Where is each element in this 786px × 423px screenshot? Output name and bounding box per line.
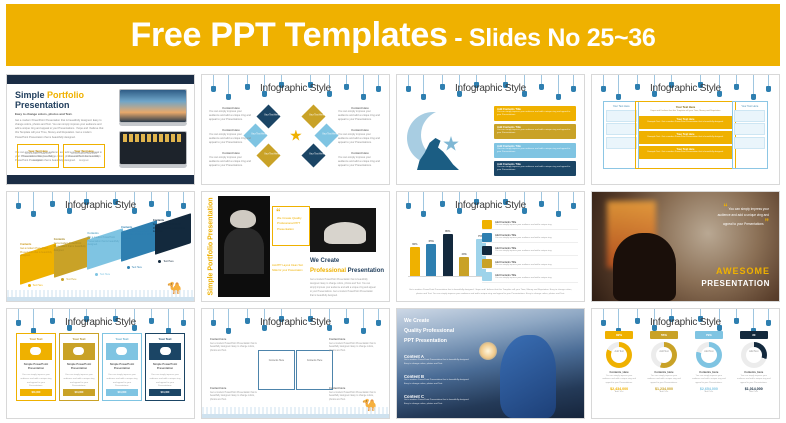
bar-group-3: 85%: [443, 230, 453, 277]
legend-row-4: Add Contents TitleYou can simply impress…: [482, 258, 578, 269]
slide4-left-column: Your Text Here: [603, 101, 639, 169]
kpi-column-3: 79% Add Text Contents_Here You can simpl…: [687, 331, 730, 394]
pricing-button-2[interactable]: $41,000: [63, 389, 94, 396]
step-caption-5: Text Here: [158, 260, 173, 263]
cloud-icon: [149, 343, 182, 360]
slide10-callout-3: Content HereGet a modern PowerPoint Pres…: [210, 387, 262, 402]
star-icon: [290, 130, 302, 142]
slide7-footer: Get a modern PowerPoint Presentation tha…: [408, 289, 573, 296]
step-caption-3: Text Here: [95, 273, 110, 276]
slide8-quote: “ You can simply impress your audience a…: [717, 204, 769, 227]
slide2-callout-4: Content HereYou can simply impress your …: [338, 106, 382, 123]
photo-prostrating-man: [310, 208, 376, 252]
slide11-content-c: Content CGet a modern PowerPoint Present…: [404, 394, 470, 406]
step-caption-2: Text Here: [61, 278, 76, 281]
slide6-side-label: Simple Portfolio Presentation: [204, 192, 218, 301]
slide1-box1-text: Get a modern PowerPoint Presentation tha…: [18, 153, 58, 163]
slide4-left-row-1: [606, 110, 637, 122]
legend-icon-5: [482, 272, 492, 281]
step-label-3: ContentsGet a modern PowerPoint Presenta…: [87, 232, 121, 247]
slide4-center-row-1: Your Text HereExample Text : Get a moder…: [639, 116, 733, 129]
slide4-right-row-1: [734, 110, 765, 122]
pricing-card-3[interactable]: Your Text Simple PowerPoint Presentation…: [102, 333, 141, 401]
donut-chart-2: Add Text: [651, 342, 677, 368]
slide5-title: Infographic Style: [7, 200, 194, 211]
slide12-title: Infographic Style: [592, 317, 779, 328]
slide-thumbnail-11[interactable]: We Create Quality Professional PPT Prese…: [396, 308, 585, 419]
slide9-title: Infographic Style: [7, 317, 194, 328]
cloud-icon: [106, 343, 139, 360]
step-label-4: ContentsGet a modern PowerPoint Presenta…: [121, 226, 155, 241]
donut-chart-3: Add Text: [696, 342, 722, 368]
slide4-left-row-3: [606, 137, 637, 149]
silhouette-figure: [613, 233, 677, 301]
banner-title: Free PPT Templates - Slides No 25~36: [131, 16, 656, 55]
slide11-content-a: Content AGet a modern PowerPoint Present…: [404, 354, 470, 366]
kpi-badge-1: 82%: [605, 331, 633, 339]
slide3-bar-1: Add Contents TitleYou can simply impress…: [494, 106, 576, 121]
cloud-icon: [20, 343, 53, 360]
open-book-icon: Contents Here Contents Here: [258, 350, 333, 389]
diamond-2: Your Text Here: [301, 104, 325, 128]
chart-axis: [408, 276, 490, 277]
laptop-mockup-bottom: [119, 131, 187, 168]
legend-row-3: Add Contents TitleYou can simply impress…: [482, 245, 578, 256]
pricing-card-2[interactable]: Your Text Simple PowerPoint Presentation…: [59, 333, 98, 401]
pricing-card-1[interactable]: Your Text Simple PowerPoint Presentation…: [16, 333, 55, 401]
donut-chart-4: Add Text: [741, 342, 767, 368]
slide6-heading: We Create: [310, 258, 339, 264]
pricing-button-4[interactable]: $41,000: [149, 389, 180, 396]
legend-icon-2: [482, 233, 492, 242]
kpi-column-1: 82% Add Text Contents_Here You can simpl…: [598, 331, 641, 394]
step-label-5: ContentsGet a modern PowerPoint Presenta…: [153, 219, 187, 234]
template-gallery-page: Free PPT Templates - Slides No 25~36 Sim…: [0, 0, 786, 423]
slide8-title-plain: PRESENTATION: [701, 279, 770, 288]
legend-icon-3: [482, 246, 492, 255]
diamond-5: Your Text Here: [256, 143, 280, 167]
diamond-4: Your Text Here: [314, 124, 338, 148]
laptop-mockup-top: [119, 89, 187, 126]
slide4-title: Infographic Style: [592, 83, 779, 94]
bar-group-2: 65%: [426, 240, 436, 277]
slide1-paragraph-1: Get a modern PowerPoint Presentation tha…: [15, 119, 105, 140]
kpi-badge-2: 55%: [650, 331, 678, 339]
slide1-bottom-bar: [7, 175, 194, 184]
slide-thumbnail-2[interactable]: Infographic Style Your Text Here Your Te…: [201, 74, 390, 185]
slide10-callout-2: Content HereGet a modern PowerPoint Pres…: [329, 338, 381, 353]
slide10-callout-1: Content HereGet a modern PowerPoint Pres…: [210, 338, 262, 353]
legend-icon-1: [482, 220, 492, 229]
legend-icon-4: [482, 259, 492, 268]
cloud-icon: [63, 343, 96, 360]
slide-thumbnail-8[interactable]: “ You can simply impress your audience a…: [591, 191, 780, 302]
legend-row-1: Add Contents TitleYou can simply impress…: [482, 219, 578, 230]
slide4-center-row-3: Your Text HereExample Text : Get a moder…: [639, 146, 733, 159]
slide11-heading-3: PPT Presentation: [404, 338, 447, 344]
slide8-title-accent: AWESOME: [716, 266, 770, 276]
kpi-column-4: 30 Add Text Contents_Here You can simply…: [732, 331, 775, 394]
diamond-6: Your Text Here: [301, 143, 325, 167]
slide10-title: Infographic Style: [202, 317, 389, 328]
kpi-badge-3: 79%: [695, 331, 723, 339]
slide-thumbnail-12[interactable]: Infographic Style 82% Add Text Contents_…: [591, 308, 780, 419]
slide1-box2-text: Get a modern PowerPoint Presentation tha…: [64, 153, 104, 163]
step-caption-4: Text Here: [127, 266, 142, 269]
slide-thumbnail-6[interactable]: Simple Portfolio Presentation “ We Creat…: [201, 191, 390, 302]
book-page-right: Contents Here: [296, 350, 333, 389]
donut-chart-1: Add Text: [606, 342, 632, 368]
pricing-button-3[interactable]: $41,000: [106, 389, 137, 396]
slide6-left-caption: ALLPPT Layout Clean Text Slide for your …: [272, 264, 306, 273]
slide1-subtitle: Easy to change colors, photos and Text.: [15, 112, 72, 116]
slide2-callout-6: Content HereYou can simply impress your …: [338, 151, 382, 168]
pricing-card-4[interactable]: Your Text Simple PowerPoint Presentation…: [145, 333, 184, 401]
slide2-callout-3: Content HereYou can simply impress your …: [209, 151, 253, 168]
slide1-title-plain: Simple: [15, 90, 47, 100]
step-caption-1: Text Here: [28, 284, 43, 287]
slide-thumbnail-7[interactable]: Infographic Style 60% 65% 85% 40% 75% Ad…: [396, 191, 585, 302]
slide4-center-column: Your Text Here I hope and I believe that…: [635, 101, 736, 169]
bar-group-1: 60%: [410, 243, 420, 277]
banner-main-text: Free PPT Templates: [131, 16, 448, 54]
slide3-bar-2: Add Contents TitleYou can simply impress…: [494, 124, 576, 139]
slide4-center-row-2: Your Text HereExample Text : Get a moder…: [639, 131, 733, 144]
quote-open-icon: “: [273, 207, 309, 215]
header-banner: Free PPT Templates - Slides No 25~36: [6, 4, 780, 66]
slide7-title: Infographic Style: [397, 200, 584, 211]
slide11-heading-2: Quality Professional: [404, 328, 454, 334]
pricing-button-1[interactable]: $41,000: [20, 389, 51, 396]
quote-close-icon: ”: [765, 217, 770, 227]
slide1-info-box-2: Your Text Here Get a modern PowerPoint P…: [63, 144, 105, 168]
legend-row-5: Add Contents TitleYou can simply impress…: [482, 272, 578, 283]
slide3-title: Infographic Style: [397, 83, 584, 94]
slide6-body: Get a modern PowerPoint Presentation tha…: [310, 279, 376, 298]
bar-chart: 60% 65% 85% 40% 75%: [408, 220, 490, 277]
book-page-left: Contents Here: [258, 350, 295, 389]
step-label-1: ContentsGet a modern PowerPoint Presenta…: [20, 243, 54, 258]
slide-thumbnail-5[interactable]: Infographic Style ContentsGet a modern P…: [6, 191, 195, 302]
slide2-callout-2: Content HereYou can simply impress your …: [209, 128, 253, 145]
slide1-top-bar: [7, 75, 194, 84]
slide2-title: Infographic Style: [202, 83, 389, 94]
slide1-title-line1: Simple Portfolio: [15, 90, 84, 100]
slide4-right-column: Your Text Here: [732, 101, 768, 169]
slide11-heading-1: We Create: [404, 318, 429, 324]
slide4-left-row-2: [606, 123, 637, 135]
slide2-callout-1: Content HereYou can simply impress your …: [209, 106, 253, 123]
bar-group-4: 40%: [459, 253, 469, 277]
slide4-right-row-3: [734, 137, 765, 149]
slide3-bar-4: Add Contents TitleYou can simply impress…: [494, 161, 576, 176]
slide2-callout-5: Content HereYou can simply impress your …: [338, 128, 382, 145]
kpi-column-2: 55% Add Text Contents_Here You can simpl…: [642, 331, 685, 394]
banner-sub-text: - Slides No 25~36: [448, 24, 656, 52]
slide11-content-b: Content BGet a modern PowerPoint Present…: [404, 374, 470, 386]
slide1-title-accent: Portfolio: [47, 90, 84, 100]
legend-row-2: Add Contents TitleYou can simply impress…: [482, 232, 578, 243]
slide6-quote-box: “ We Create Quality Professional PPT Pre…: [272, 206, 310, 246]
slide-thumbnail-10[interactable]: Infographic Style Contents Here Contents…: [201, 308, 390, 419]
slide-grid: Simple Portfolio Presentation Easy to ch…: [6, 74, 780, 419]
kpi-badge-4: 30: [740, 331, 768, 339]
photo-praying-man: [218, 196, 270, 297]
slide3-bar-3: Add Contents TitleYou can simply impress…: [494, 143, 576, 158]
pilgrim-figure: [500, 335, 556, 418]
sun-icon: [479, 342, 497, 360]
slide1-title-line2: Presentation: [15, 100, 70, 110]
slide-thumbnail-4[interactable]: Infographic Style Your Text Here Your Te…: [591, 74, 780, 185]
step-label-2: ContentsGet a modern PowerPoint Presenta…: [54, 238, 88, 253]
slide4-right-row-2: [734, 123, 765, 135]
slide-thumbnail-1[interactable]: Simple Portfolio Presentation Easy to ch…: [6, 74, 195, 185]
slide6-heading-2: Professional Presentation: [310, 268, 384, 274]
diamond-1: Your Text Here: [256, 104, 280, 128]
slide1-info-box-1: Your Text Here Get a modern PowerPoint P…: [17, 144, 59, 168]
slide-thumbnail-9[interactable]: Infographic Style Your Text Simple Power…: [6, 308, 195, 419]
slide-thumbnail-3[interactable]: Infographic Style Add Contents TitleYou …: [396, 74, 585, 185]
quote-open-icon: “: [723, 202, 728, 212]
